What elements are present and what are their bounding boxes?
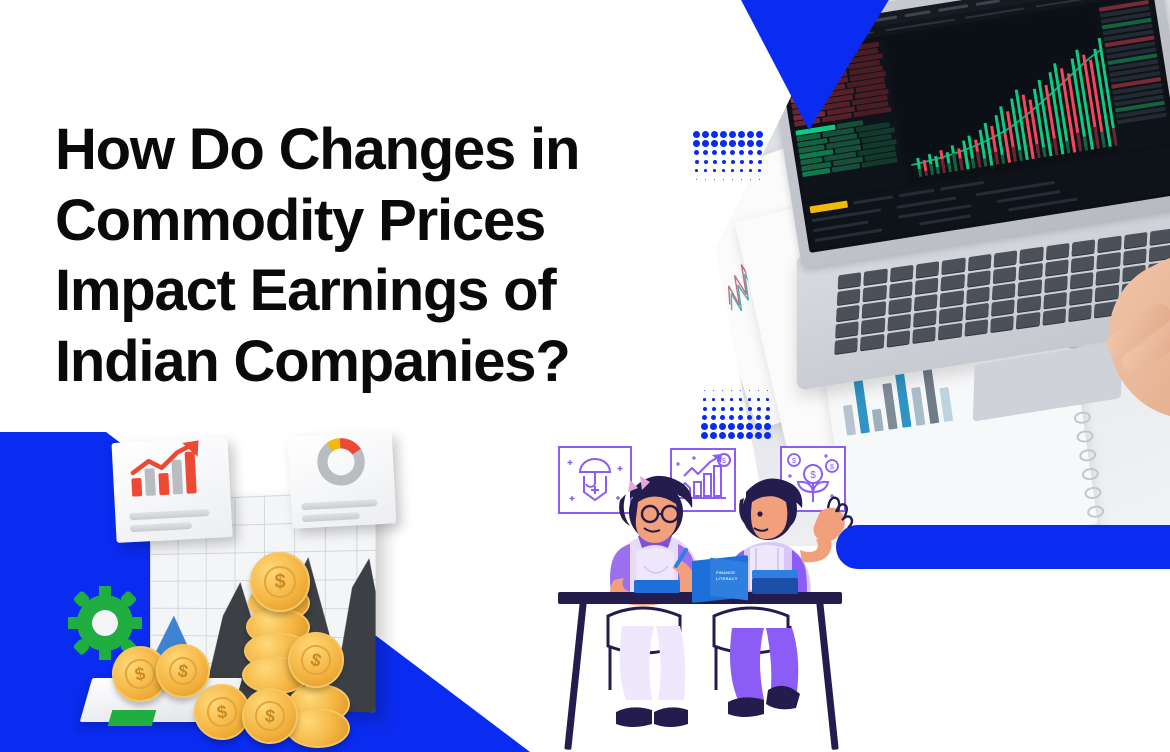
document-green-tab	[108, 710, 157, 726]
bar-chart-icon	[111, 437, 230, 503]
finance-growth-3d-illustration: $ $ $ $ $ $	[52, 432, 382, 752]
finance-literacy-book: FINANCE LITERACY	[692, 558, 748, 600]
book-title-line-2: LITERACY	[716, 576, 738, 582]
gold-coin: $	[250, 552, 310, 612]
financial-literacy-illustration: $ $ $ $	[552, 440, 874, 752]
bar-chart-card	[111, 437, 232, 543]
price-chart-panel	[887, 7, 1115, 185]
donut-chart-icon	[288, 431, 395, 488]
halftone-dot-grid-top	[692, 130, 764, 184]
donut-chart-card	[288, 431, 397, 528]
poster-canvas: $ $ $ $ $ $	[0, 0, 1170, 752]
orders-tab-active	[809, 201, 848, 214]
desk-book-left	[634, 580, 680, 593]
blue-bar-right	[836, 525, 1170, 569]
halftone-dot-grid-bottom	[700, 386, 772, 440]
desk-book-right	[752, 578, 798, 594]
headline-line-1: How Do Changes in	[55, 115, 695, 186]
headline-line-3: Impact Earnings of	[55, 256, 695, 327]
headline-line-4: Indian Companies?	[55, 327, 695, 398]
page-title: How Do Changes in Commodity Prices Impac…	[55, 115, 695, 398]
headline-line-2: Commodity Prices	[55, 186, 695, 257]
